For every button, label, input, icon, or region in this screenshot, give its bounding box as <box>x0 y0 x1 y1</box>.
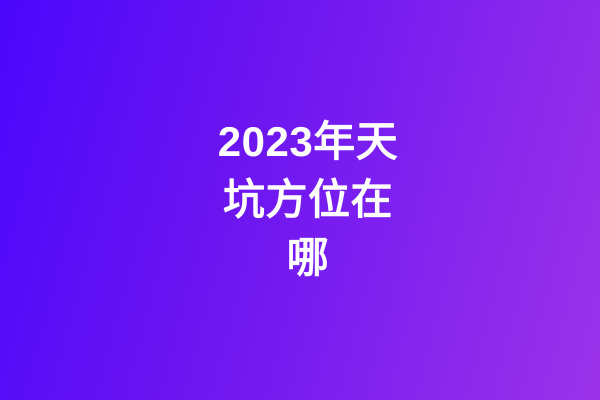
page-title: 2023年天坑方位在哪 <box>210 113 406 287</box>
banner-canvas: 2023年天坑方位在哪 <box>0 0 600 400</box>
